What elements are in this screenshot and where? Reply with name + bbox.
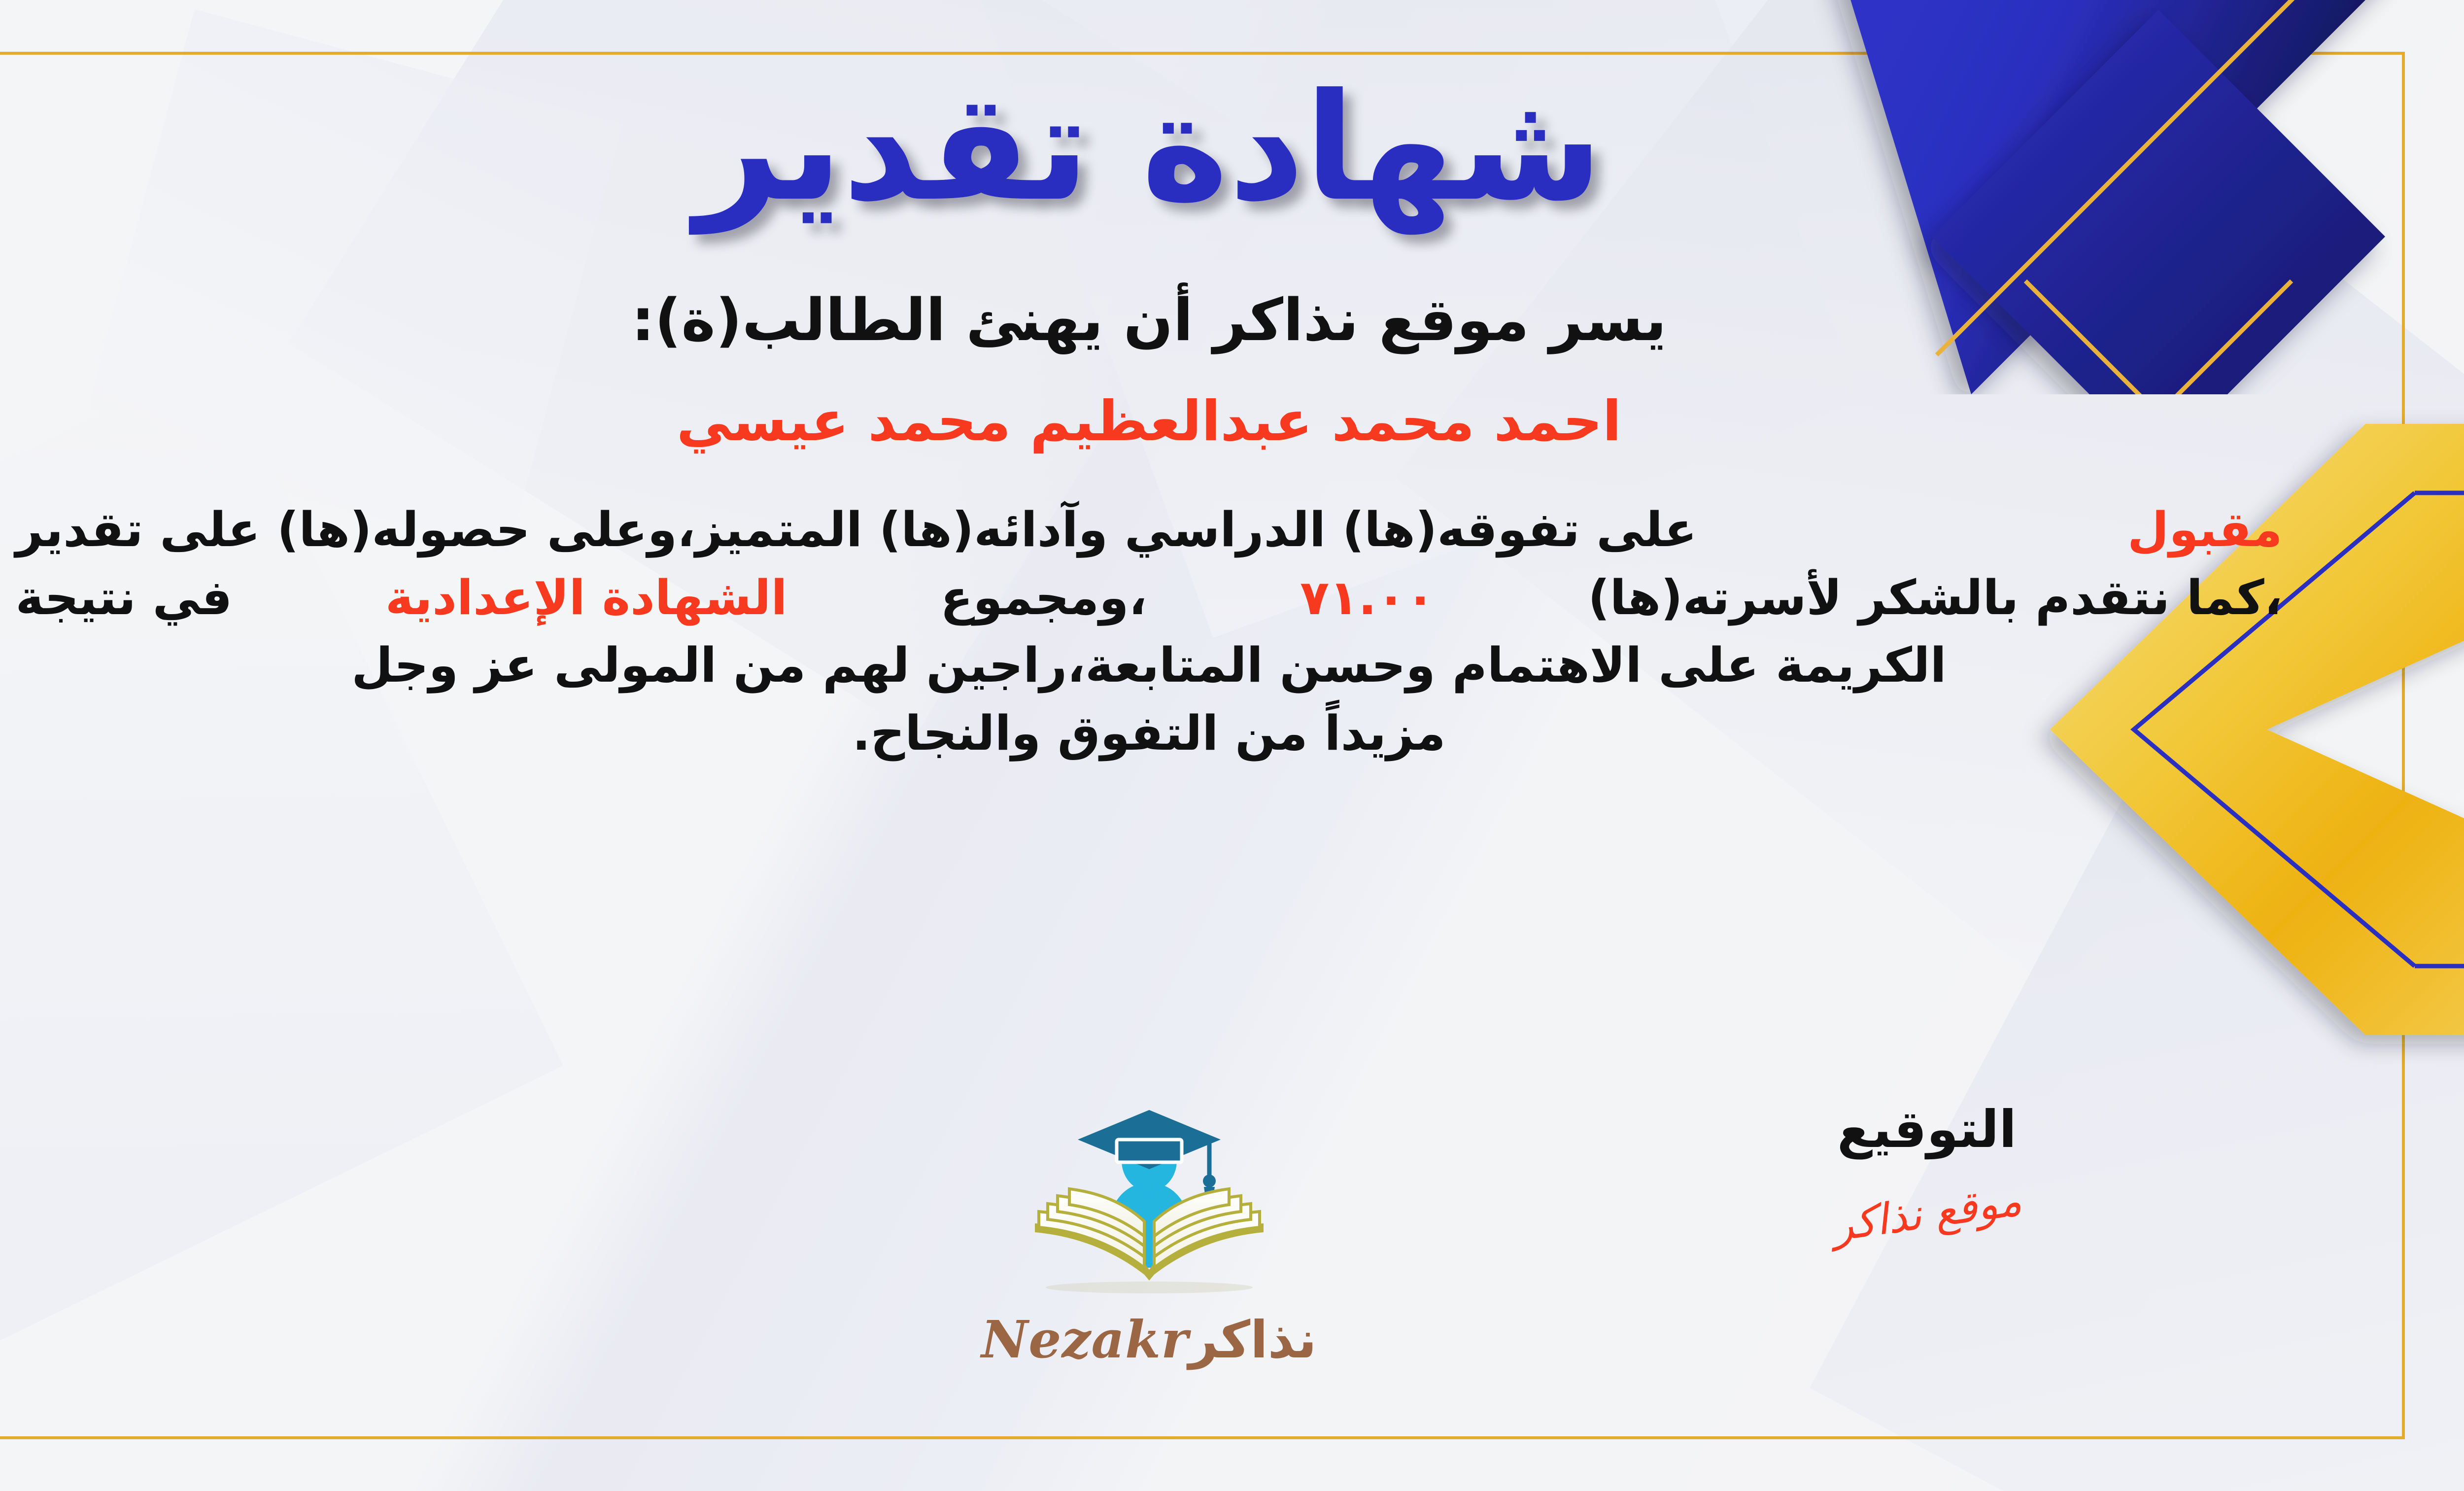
body-line-2-mid: ،ومجموع xyxy=(940,564,1147,632)
body-line-2-head: في نتيجة xyxy=(16,564,233,632)
brand-logo-block: نذاكرNezakr xyxy=(927,1094,1371,1370)
body-line-2-tail: ،كما نتقدم بالشكر لأسرته(ها) xyxy=(1588,564,2282,632)
signature-block: التوقيع موقع نذاكر xyxy=(1705,1099,2149,1238)
exam-name-value: الشهادة الإعدادية xyxy=(385,564,787,632)
brand-wordmark: نذاكرNezakr xyxy=(927,1309,1371,1370)
body-line-3: الكريمة على الاهتمام وحسن المتابعة،راجين… xyxy=(16,631,2283,699)
page-title: شهادة تقدير xyxy=(0,74,2464,222)
brand-wordmark-arabic: نذاكر xyxy=(1189,1310,1317,1370)
certificate-canvas: شهادة تقدير يسر موقع نذاكر أن يهنئ الطال… xyxy=(0,0,2464,1491)
brand-wordmark-latin: Nezakr xyxy=(981,1309,1189,1370)
grade-value: مقبول xyxy=(2127,496,2282,564)
signature-mark: موقع نذاكر xyxy=(1829,1176,2024,1251)
body-paragraph: مقبول على تفوقه(ها) الدراسي وآدائه(ها) ا… xyxy=(16,496,2283,767)
certificate-content: شهادة تقدير يسر موقع نذاكر أن يهنئ الطال… xyxy=(0,0,2464,767)
body-line-4: مزيداً من التفوق والنجاح. xyxy=(16,699,2283,767)
student-name: احمد محمد عبدالعظيم محمد عيسي xyxy=(0,389,2464,453)
certificate-footer: التوقيع موقع نذاكر xyxy=(0,1099,2464,1444)
graduate-book-logo-icon xyxy=(996,1094,1302,1306)
total-score-value: ٧١.٠٠ xyxy=(1300,564,1435,632)
body-line-1-text: على تفوقه(ها) الدراسي وآدائه(ها) المتميز… xyxy=(16,496,1697,564)
signature-label: التوقيع xyxy=(1705,1099,2149,1159)
body-line-1: مقبول على تفوقه(ها) الدراسي وآدائه(ها) ا… xyxy=(16,496,2283,564)
intro-line: يسر موقع نذاكر أن يهنئ الطالب(ة): xyxy=(0,286,2464,354)
body-line-2: ،كما نتقدم بالشكر لأسرته(ها) ٧١.٠٠ ،ومجم… xyxy=(16,564,2283,632)
